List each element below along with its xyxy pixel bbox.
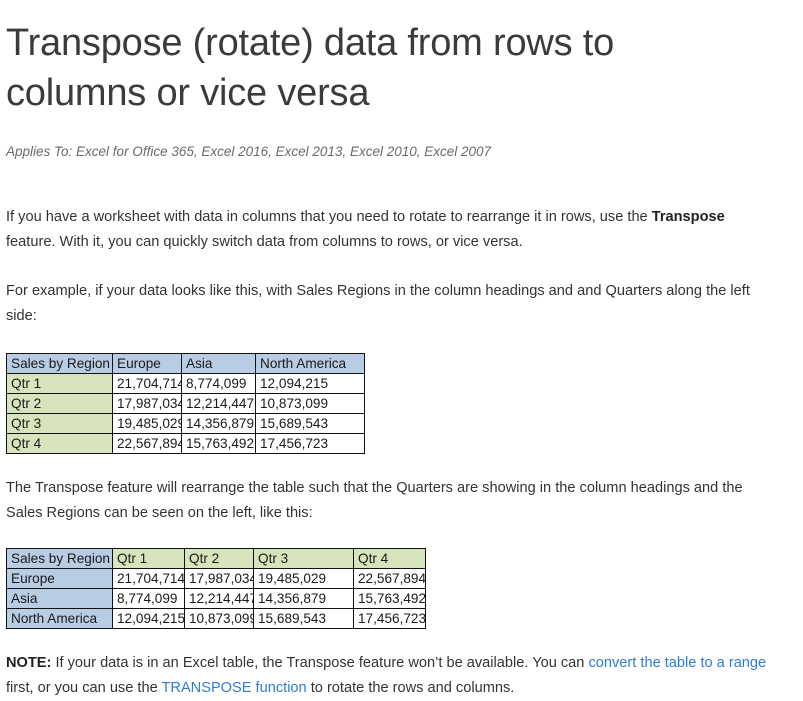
table1-cell: 21,704,714 xyxy=(113,374,182,394)
table2-cell: 15,763,492 xyxy=(354,589,426,609)
note-text-2: first, or you can use the xyxy=(6,680,161,696)
table1-cell: 15,763,492 xyxy=(182,434,256,454)
table1-cell: 10,873,099 xyxy=(256,394,365,414)
table1-header-cell: Sales by Region xyxy=(7,354,113,374)
intro-text-after: feature. With it, you can quickly switch… xyxy=(6,234,523,250)
table1-header-cell: Europe xyxy=(113,354,182,374)
table1-cell: 12,094,215 xyxy=(256,374,365,394)
table1-cell: 15,689,543 xyxy=(256,414,365,434)
table1-header-cell: Asia xyxy=(182,354,256,374)
table-header-row: Sales by Region Europe Asia North Americ… xyxy=(7,354,365,374)
table1-cell: 17,456,723 xyxy=(256,434,365,454)
page-title: Transpose (rotate) data from rows to col… xyxy=(6,18,706,118)
applies-to-line: Applies To: Excel for Office 365, Excel … xyxy=(6,144,795,159)
original-data-table: Sales by Region Europe Asia North Americ… xyxy=(6,353,365,454)
table1-cell: 14,356,879 xyxy=(182,414,256,434)
example-paragraph: For example, if your data looks like thi… xyxy=(6,279,778,329)
table2-row-label: Asia xyxy=(7,589,113,609)
table1-cell: 19,485,029 xyxy=(113,414,182,434)
table2-cell: 8,774,099 xyxy=(113,589,185,609)
table2-cell: 12,094,215 xyxy=(113,609,185,629)
note-text-3: to rotate the rows and columns. xyxy=(307,680,515,696)
article-page: Transpose (rotate) data from rows to col… xyxy=(0,0,803,701)
table2-cell: 15,689,543 xyxy=(254,609,354,629)
table2-row-label: North America xyxy=(7,609,113,629)
table1-row-label: Qtr 3 xyxy=(7,414,113,434)
table1-cell: 22,567,894 xyxy=(113,434,182,454)
table1-cell: 12,214,447 xyxy=(182,394,256,414)
transpose-bold: Transpose xyxy=(652,209,725,225)
table1-cell: 8,774,099 xyxy=(182,374,256,394)
table1-row-label: Qtr 1 xyxy=(7,374,113,394)
table2-header-cell: Sales by Region xyxy=(7,549,113,569)
convert-table-to-range-link[interactable]: convert the table to a range xyxy=(588,655,766,671)
intro-text-before: If you have a worksheet with data in col… xyxy=(6,209,652,225)
table2-cell: 19,485,029 xyxy=(254,569,354,589)
note-label: NOTE: xyxy=(6,655,51,671)
table2-cell: 10,873,099 xyxy=(185,609,254,629)
transposed-table-container: Sales by Region Qtr 1 Qtr 2 Qtr 3 Qtr 4 … xyxy=(6,548,795,629)
transpose-function-link[interactable]: TRANSPOSE function xyxy=(161,680,306,696)
table2-cell: 17,987,034 xyxy=(185,569,254,589)
table-row: Qtr 4 22,567,894 15,763,492 17,456,723 xyxy=(7,434,365,454)
table2-header-cell: Qtr 4 xyxy=(354,549,426,569)
table2-cell: 12,214,447 xyxy=(185,589,254,609)
transpose-explanation-paragraph: The Transpose feature will rearrange the… xyxy=(6,476,778,526)
table1-row-label: Qtr 4 xyxy=(7,434,113,454)
table-row: Qtr 2 17,987,034 12,214,447 10,873,099 xyxy=(7,394,365,414)
table2-cell: 14,356,879 xyxy=(254,589,354,609)
intro-paragraph: If you have a worksheet with data in col… xyxy=(6,205,778,255)
table1-header-cell: North America xyxy=(256,354,365,374)
table2-cell: 21,704,714 xyxy=(113,569,185,589)
table-row: North America 12,094,215 10,873,099 15,6… xyxy=(7,609,426,629)
table2-cell: 22,567,894 xyxy=(354,569,426,589)
table1-cell: 17,987,034 xyxy=(113,394,182,414)
original-table-container: Sales by Region Europe Asia North Americ… xyxy=(6,353,795,454)
note-paragraph: NOTE: If your data is in an Excel table,… xyxy=(6,651,778,701)
note-text-1: If your data is in an Excel table, the T… xyxy=(51,655,588,671)
table-row: Europe 21,704,714 17,987,034 19,485,029 … xyxy=(7,569,426,589)
table-header-row: Sales by Region Qtr 1 Qtr 2 Qtr 3 Qtr 4 xyxy=(7,549,426,569)
transposed-data-table: Sales by Region Qtr 1 Qtr 2 Qtr 3 Qtr 4 … xyxy=(6,548,426,629)
table2-header-cell: Qtr 1 xyxy=(113,549,185,569)
table1-row-label: Qtr 2 xyxy=(7,394,113,414)
table2-header-cell: Qtr 2 xyxy=(185,549,254,569)
table-row: Asia 8,774,099 12,214,447 14,356,879 15,… xyxy=(7,589,426,609)
table2-header-cell: Qtr 3 xyxy=(254,549,354,569)
table-row: Qtr 1 21,704,714 8,774,099 12,094,215 xyxy=(7,374,365,394)
table2-cell: 17,456,723 xyxy=(354,609,426,629)
table-row: Qtr 3 19,485,029 14,356,879 15,689,543 xyxy=(7,414,365,434)
table2-row-label: Europe xyxy=(7,569,113,589)
